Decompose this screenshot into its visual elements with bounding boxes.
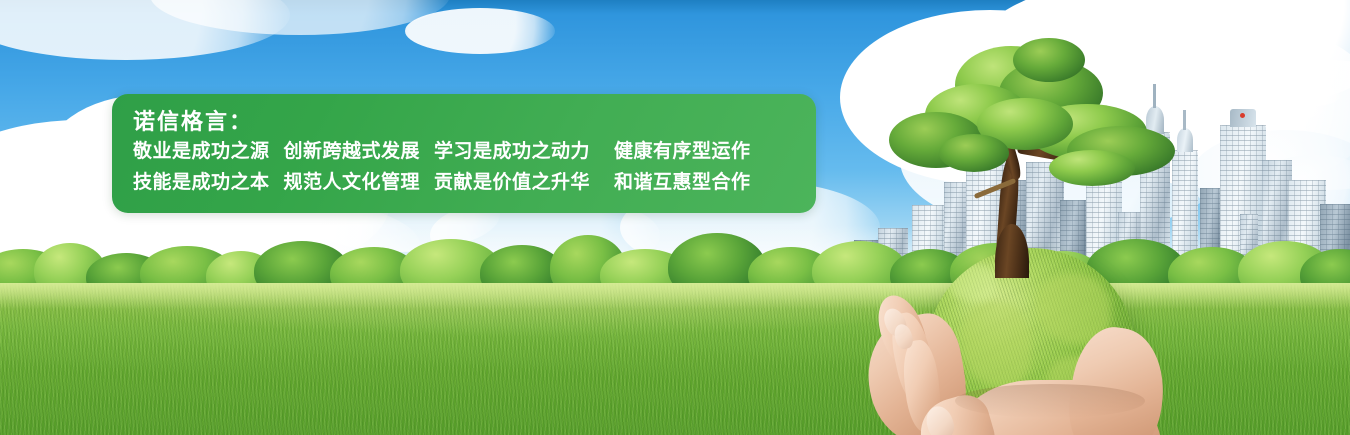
hand-shadow — [955, 384, 1145, 418]
motto-segment: 技能是成功之本 — [133, 167, 270, 198]
motto-segment: 贡献是价值之升华 — [434, 167, 590, 198]
tree-root-flare — [995, 224, 1029, 278]
bonsai-tree — [881, 38, 1166, 278]
motto-line-2: 技能是成功之本规范人文化管理贡献是价值之升华和谐互惠型合作 — [133, 167, 816, 198]
cupped-hands — [855, 288, 1185, 435]
hands-holding-globe — [855, 38, 1185, 435]
tree-canopy — [1013, 38, 1085, 82]
motto-panel: 诺信格言： 敬业是成功之源创新跨越式发展学习是成功之动力健康有序型运作 技能是成… — [112, 94, 816, 213]
motto-segment: 和谐互惠型合作 — [614, 167, 751, 198]
motto-segment: 学习是成功之动力 — [434, 136, 590, 167]
motto-title: 诺信格言： — [133, 108, 816, 136]
motto-segment: 规范人文化管理 — [284, 167, 421, 198]
tree-canopy — [939, 134, 1009, 172]
motto-segment: 创新跨越式发展 — [284, 136, 421, 167]
tree-canopy — [1049, 150, 1135, 186]
cloud-puff — [405, 8, 555, 54]
motto-segment: 敬业是成功之源 — [133, 136, 270, 167]
right-hand-side — [1062, 322, 1171, 435]
motto-line-1: 敬业是成功之源创新跨越式发展学习是成功之动力健康有序型运作 — [133, 136, 816, 167]
eco-corporate-banner: 诺信格言： 敬业是成功之源创新跨越式发展学习是成功之动力健康有序型运作 技能是成… — [0, 0, 1350, 435]
motto-segment: 健康有序型运作 — [614, 136, 751, 167]
